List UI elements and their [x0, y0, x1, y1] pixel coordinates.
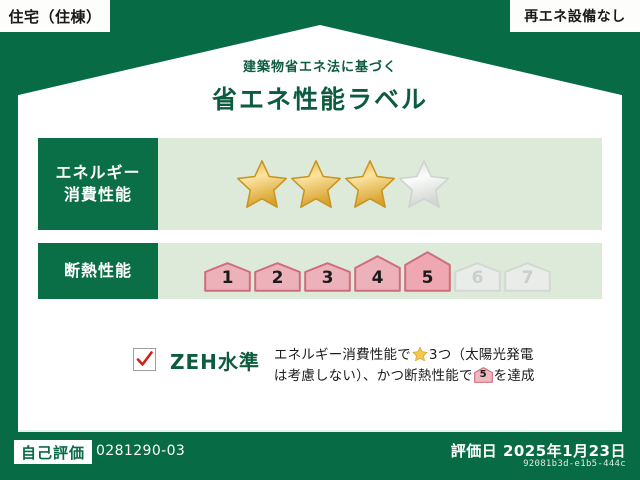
house-icon	[504, 262, 551, 292]
insulation-grade-3: 3	[304, 262, 351, 292]
evaluation-date-label: 評価日	[451, 442, 498, 460]
star-icon-empty	[398, 158, 450, 210]
star-rating	[236, 158, 450, 210]
house-icon	[454, 262, 501, 292]
row-insulation-performance: 断熱性能 1234567	[38, 243, 602, 299]
row-energy-label-line2: 消費性能	[64, 184, 132, 206]
self-evaluation-code: 0281290-03	[96, 443, 185, 459]
zeh-desc-part1: エネルギー消費性能で	[274, 347, 411, 363]
badge-building-type: 住宅（住棟）	[0, 0, 110, 32]
house-icon	[404, 251, 451, 292]
energy-performance-label: 住宅（住棟） 再エネ設備なし 建築物省エネ法に基づく 省エネ性能ラベル エネルギ…	[0, 0, 640, 480]
title-subtitle: 建築物省エネ法に基づく	[0, 56, 640, 75]
row-energy-label-line1: エネルギー	[55, 162, 140, 184]
insulation-grade-1: 1	[204, 262, 251, 292]
insulation-grade-2: 2	[254, 262, 301, 292]
label-title-block: 建築物省エネ法に基づく 省エネ性能ラベル	[0, 56, 640, 116]
insulation-grade-5: 5	[404, 251, 451, 292]
insulation-grade-6: 6	[454, 262, 501, 292]
evaluation-hash: 92081b3d-e1b5-444c	[523, 459, 626, 469]
footer-divider	[18, 430, 622, 432]
zeh-title: ZEH水準	[170, 346, 260, 375]
house-icon	[204, 262, 251, 292]
zeh-description: エネルギー消費性能で3つ（太陽光発電は考慮しない）、かつ断熱性能で5を達成	[274, 345, 542, 387]
zeh-checkbox[interactable]	[133, 348, 156, 371]
insulation-grade-7: 7	[504, 262, 551, 292]
zeh-desc-part4: を達成	[494, 368, 535, 384]
row-energy-performance: エネルギー 消費性能	[38, 138, 602, 230]
insulation-grade-4: 4	[354, 255, 401, 292]
house-icon-inline: 5	[474, 367, 493, 383]
title-main: 省エネ性能ラベル	[0, 80, 640, 116]
row-insulation-value: 1234567	[158, 243, 602, 299]
row-insulation-label-text: 断熱性能	[64, 260, 132, 282]
star-icon-filled	[236, 158, 288, 210]
house-icon	[304, 262, 351, 292]
zeh-desc-part3: は考慮しない）、かつ断熱性能で	[274, 368, 473, 384]
row-energy-label: エネルギー 消費性能	[38, 138, 158, 230]
house-icon	[354, 255, 401, 292]
star-icon-inline	[412, 346, 428, 362]
house-icon-inline-number: 5	[474, 367, 493, 383]
evaluation-date-value: 2025年1月23日	[503, 442, 626, 460]
row-insulation-label: 断熱性能	[38, 243, 158, 299]
zeh-section: ZEH水準 エネルギー消費性能で3つ（太陽光発電は考慮しない）、かつ断熱性能で5…	[133, 345, 542, 387]
house-icon	[254, 262, 301, 292]
check-icon	[135, 350, 154, 369]
star-icon-filled	[344, 158, 396, 210]
zeh-desc-part2: 3つ（太陽光発電	[429, 347, 534, 363]
evaluation-date: 評価日 2025年1月23日	[451, 440, 626, 461]
self-evaluation-badge: 自己評価	[14, 440, 92, 464]
row-energy-value	[158, 138, 602, 230]
badge-renewable-energy: 再エネ設備なし	[510, 0, 640, 32]
insulation-grade-scale: 1234567	[204, 251, 551, 292]
star-icon-filled	[290, 158, 342, 210]
